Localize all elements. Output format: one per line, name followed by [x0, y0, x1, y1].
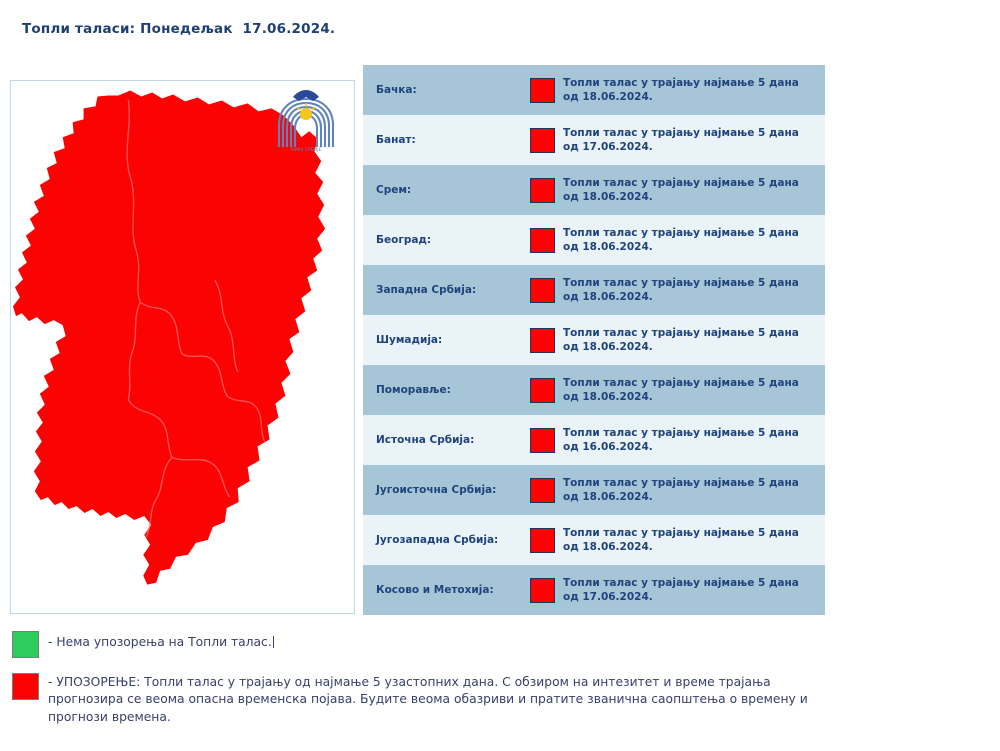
warning-color-swatch — [530, 378, 555, 403]
region-label: Источна Србија: — [363, 434, 521, 447]
region-warning-text: Топли талас у трајању најмање 5 дана од … — [563, 76, 825, 104]
table-row: Срем:Топли талас у трајању најмање 5 дан… — [363, 165, 825, 215]
map-panel: РХМЗ СРБИЈЕ — [10, 80, 355, 614]
warning-color-swatch — [530, 128, 555, 153]
table-row: Бачка:Топли талас у трајању најмање 5 да… — [363, 65, 825, 115]
region-label: Југозападна Србија: — [363, 534, 521, 547]
region-swatch-cell — [521, 178, 563, 203]
serbia-map-svg — [11, 81, 354, 613]
rhmz-logo-svg: РХМЗ СРБИЈЕ — [275, 89, 337, 155]
region-warning-text: Топли талас у трајању најмање 5 дана од … — [563, 326, 825, 354]
legend-row-warning: - УПОЗОРЕЊЕ: Топли талас у трајању од на… — [12, 672, 987, 726]
table-row: Београд:Топли талас у трајању најмање 5 … — [363, 215, 825, 265]
region-swatch-cell — [521, 378, 563, 403]
region-warning-text: Топли талас у трајању најмање 5 дана од … — [563, 376, 825, 404]
region-label: Срем: — [363, 184, 521, 197]
region-swatch-cell — [521, 128, 563, 153]
region-label: Београд: — [363, 234, 521, 247]
region-warning-text: Топли талас у трајању најмање 5 дана од … — [563, 426, 825, 454]
region-warning-text: Топли талас у трајању најмање 5 дана од … — [563, 576, 825, 604]
region-warning-text: Топли талас у трајању најмање 5 дана од … — [563, 276, 825, 304]
page-title: Топли таласи: Понедељак 17.06.2024. — [22, 21, 335, 37]
region-swatch-cell — [521, 428, 563, 453]
warning-color-swatch — [530, 528, 555, 553]
region-warning-text: Топли талас у трајању најмање 5 дана од … — [563, 476, 825, 504]
region-warning-text: Топли талас у трајању најмање 5 дана од … — [563, 176, 825, 204]
region-warning-text: Топли талас у трајању најмање 5 дана од … — [563, 526, 825, 554]
region-label: Поморавље: — [363, 384, 521, 397]
serbia-map — [11, 81, 354, 613]
warning-color-swatch — [530, 78, 555, 103]
region-swatch-cell — [521, 578, 563, 603]
table-row: Југоисточна Србија:Топли талас у трајању… — [363, 465, 825, 515]
region-swatch-cell — [521, 328, 563, 353]
region-label: Југоисточна Србија: — [363, 484, 521, 497]
table-row: Југозападна Србија:Топли талас у трајању… — [363, 515, 825, 565]
text-caret — [273, 636, 274, 648]
rhmz-logo-icon: РХМЗ СРБИЈЕ — [275, 89, 337, 155]
legend-text-green: - Нема упозорења на Топли талас. — [48, 630, 274, 651]
region-swatch-cell — [521, 278, 563, 303]
table-row: Западна Србија:Топли талас у трајању нај… — [363, 265, 825, 315]
warning-color-swatch — [530, 328, 555, 353]
legend: - Нема упозорења на Топли талас. - УПОЗО… — [12, 630, 987, 740]
legend-swatch-red — [12, 673, 39, 700]
table-row: Поморавље:Топли талас у трајању најмање … — [363, 365, 825, 415]
warning-color-swatch — [530, 228, 555, 253]
table-row: Косово и Метохија:Топли талас у трајању … — [363, 565, 825, 615]
warning-color-swatch — [530, 578, 555, 603]
region-label: Шумадија: — [363, 334, 521, 347]
region-swatch-cell — [521, 528, 563, 553]
heat-wave-warning-page: Топли таласи: Понедељак 17.06.2024. — [0, 0, 1000, 751]
regions-warning-table: Бачка:Топли талас у трајању најмање 5 да… — [363, 65, 825, 615]
region-warning-text: Топли талас у трајању најмање 5 дана од … — [563, 226, 825, 254]
legend-text-red: - УПОЗОРЕЊЕ: Топли талас у трајању од на… — [48, 672, 848, 726]
region-label: Банат: — [363, 134, 521, 147]
warning-color-swatch — [530, 428, 555, 453]
region-label: Бачка: — [363, 84, 521, 97]
serbia-outline-path — [13, 90, 325, 584]
region-label: Западна Србија: — [363, 284, 521, 297]
logo-sun — [300, 108, 312, 120]
warning-color-swatch — [530, 178, 555, 203]
table-row: Шумадија:Топли талас у трајању најмање 5… — [363, 315, 825, 365]
logo-caption: РХМЗ СРБИЈЕ — [290, 147, 321, 153]
region-swatch-cell — [521, 78, 563, 103]
table-row: Банат:Топли талас у трајању најмање 5 да… — [363, 115, 825, 165]
warning-color-swatch — [530, 278, 555, 303]
region-swatch-cell — [521, 228, 563, 253]
region-warning-text: Топли талас у трајању најмање 5 дана од … — [563, 126, 825, 154]
table-row: Источна Србија:Топли талас у трајању нај… — [363, 415, 825, 465]
region-label: Косово и Метохија: — [363, 584, 521, 597]
legend-green-label: - Нема упозорења на Топли талас. — [48, 635, 272, 649]
region-swatch-cell — [521, 478, 563, 503]
legend-swatch-green — [12, 631, 39, 658]
legend-row-no-warning: - Нема упозорења на Топли талас. — [12, 630, 987, 658]
warning-color-swatch — [530, 478, 555, 503]
